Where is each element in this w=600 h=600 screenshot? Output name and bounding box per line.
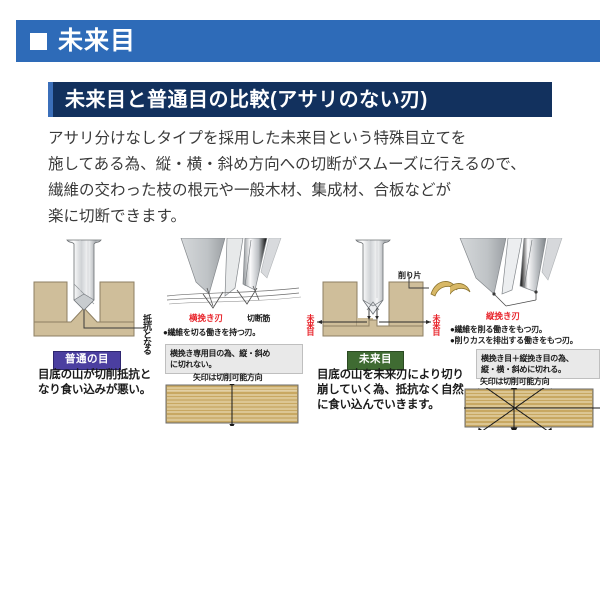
rip-bullet-2: ●削りカスを排出する働きをもつ刃。 bbox=[450, 335, 600, 346]
mirai-caption: 目底の山を未来刃により切り 崩していく為、抵抗なく自然 に食い込んでいきます。 bbox=[317, 368, 467, 413]
normal-caption-line-2: なり食い込みが悪い。 bbox=[38, 383, 168, 398]
rip-blade-label: 縦挽き刃 bbox=[486, 311, 520, 321]
mirai-badge-wrap: 未来目 bbox=[347, 349, 404, 370]
page-header: 未来目 bbox=[16, 20, 600, 62]
body-line-3: 繊維の交わった枝の根元や一般木材、集成材、合板などが bbox=[48, 178, 568, 204]
rip-blade-illustration bbox=[450, 238, 600, 320]
normal-caption-line-1: 目底の山が切削抵抗と bbox=[38, 368, 168, 383]
body-line-1: アサリ分けなしタイプを採用した未来目という特殊目立てを bbox=[48, 126, 568, 152]
panel-rip: 縦挽き刃 ●繊維を削る働きをもつ刃。 ●削りカスを排出する働きをもつ刃。 横挽き… bbox=[450, 238, 600, 428]
crosscut-note-line-2: に切れない。 bbox=[170, 359, 298, 370]
rip-note-line-2: 縦・横・斜めに切れる。 bbox=[481, 364, 595, 375]
panel-normal-tooth: 抵抗となる 普通の目 目底の山が切削抵抗と なり食い込みが悪い。 bbox=[20, 238, 170, 428]
section-subheader: 未来目と普通目の比較(アサリのない刃) bbox=[48, 82, 552, 117]
body-line-4: 楽に切断できます。 bbox=[48, 204, 568, 230]
crosscut-wood-direction-diagram bbox=[165, 384, 305, 426]
mirai-caption-line-2: 崩していく為、抵抗なく自然 bbox=[317, 383, 467, 398]
rip-bullet-1: ●繊維を削る働きをもつ刃。 bbox=[450, 324, 600, 335]
rip-arrow-caption: 矢印は切削可能方向 bbox=[480, 376, 549, 387]
page-title: 未来目 bbox=[58, 29, 136, 54]
body-paragraph: アサリ分けなしタイプを採用した未来目という特殊目立てを 施してある為、縦・横・斜… bbox=[48, 126, 568, 230]
resistance-label: 抵抗となる bbox=[142, 314, 152, 354]
mirai-caption-line-1: 目底の山を未来刃により切り bbox=[317, 368, 467, 383]
mirai-caption-line-3: に食い込んでいきます。 bbox=[317, 398, 467, 413]
crosscut-blade-label: 横挽き刃 bbox=[189, 313, 223, 323]
panel-crosscut: 横挽き刃 切断筋 ●繊維を切る働きを持つ刃。 横挽き専用目の為、縦・斜め に切れ… bbox=[163, 238, 313, 428]
crosscut-arrow-caption: 矢印は切削可能方向 bbox=[193, 372, 262, 383]
chip-label: 削り片 bbox=[398, 270, 421, 281]
crosscut-bullet-1: ●繊維を切る働きを持つ刃。 bbox=[163, 327, 311, 338]
filled-square-icon bbox=[30, 33, 47, 50]
panel-mirai-tooth: 未来目 未来目 削り片 未来目 目底の山を未来刃により切り 崩していく為、抵抗な… bbox=[305, 238, 460, 428]
kerf-line-label: 切断筋 bbox=[247, 313, 270, 324]
mirai-tooth-illustration bbox=[305, 238, 460, 353]
crosscut-blade-illustration bbox=[163, 238, 313, 320]
crosscut-note-box: 横挽き専用目の為、縦・斜め に切れない。 bbox=[165, 344, 303, 374]
body-line-2: 施してある為、縦・横・斜め方向への切断がスムーズに行えるので、 bbox=[48, 152, 568, 178]
subheader-title: 未来目と普通目の比較(アサリのない刃) bbox=[65, 90, 428, 110]
crosscut-note-line-1: 横挽き専用目の為、縦・斜め bbox=[170, 348, 298, 359]
rip-note-box: 横挽き目＋縦挽き目の為、 縦・横・斜めに切れる。 bbox=[476, 349, 600, 379]
rip-note-line-1: 横挽き目＋縦挽き目の為、 bbox=[481, 353, 595, 364]
mirai-side-label-left: 未来目 bbox=[306, 314, 314, 335]
comparison-figure: 抵抗となる 普通の目 目底の山が切削抵抗と なり食い込みが悪い。 bbox=[20, 238, 592, 428]
badge-normal-tooth: 普通の目 bbox=[53, 351, 121, 370]
page-root: 未来目 未来目と普通目の比較(アサリのない刃) アサリ分けなしタイプを採用した未… bbox=[0, 0, 600, 600]
badge-mirai-tooth: 未来目 bbox=[347, 351, 404, 370]
mirai-side-label-right: 未来目 bbox=[432, 314, 440, 335]
normal-caption: 目底の山が切削抵抗と なり食い込みが悪い。 bbox=[38, 368, 168, 398]
normal-badge-wrap: 普通の目 bbox=[53, 349, 121, 370]
rip-wood-direction-diagram bbox=[464, 388, 600, 430]
